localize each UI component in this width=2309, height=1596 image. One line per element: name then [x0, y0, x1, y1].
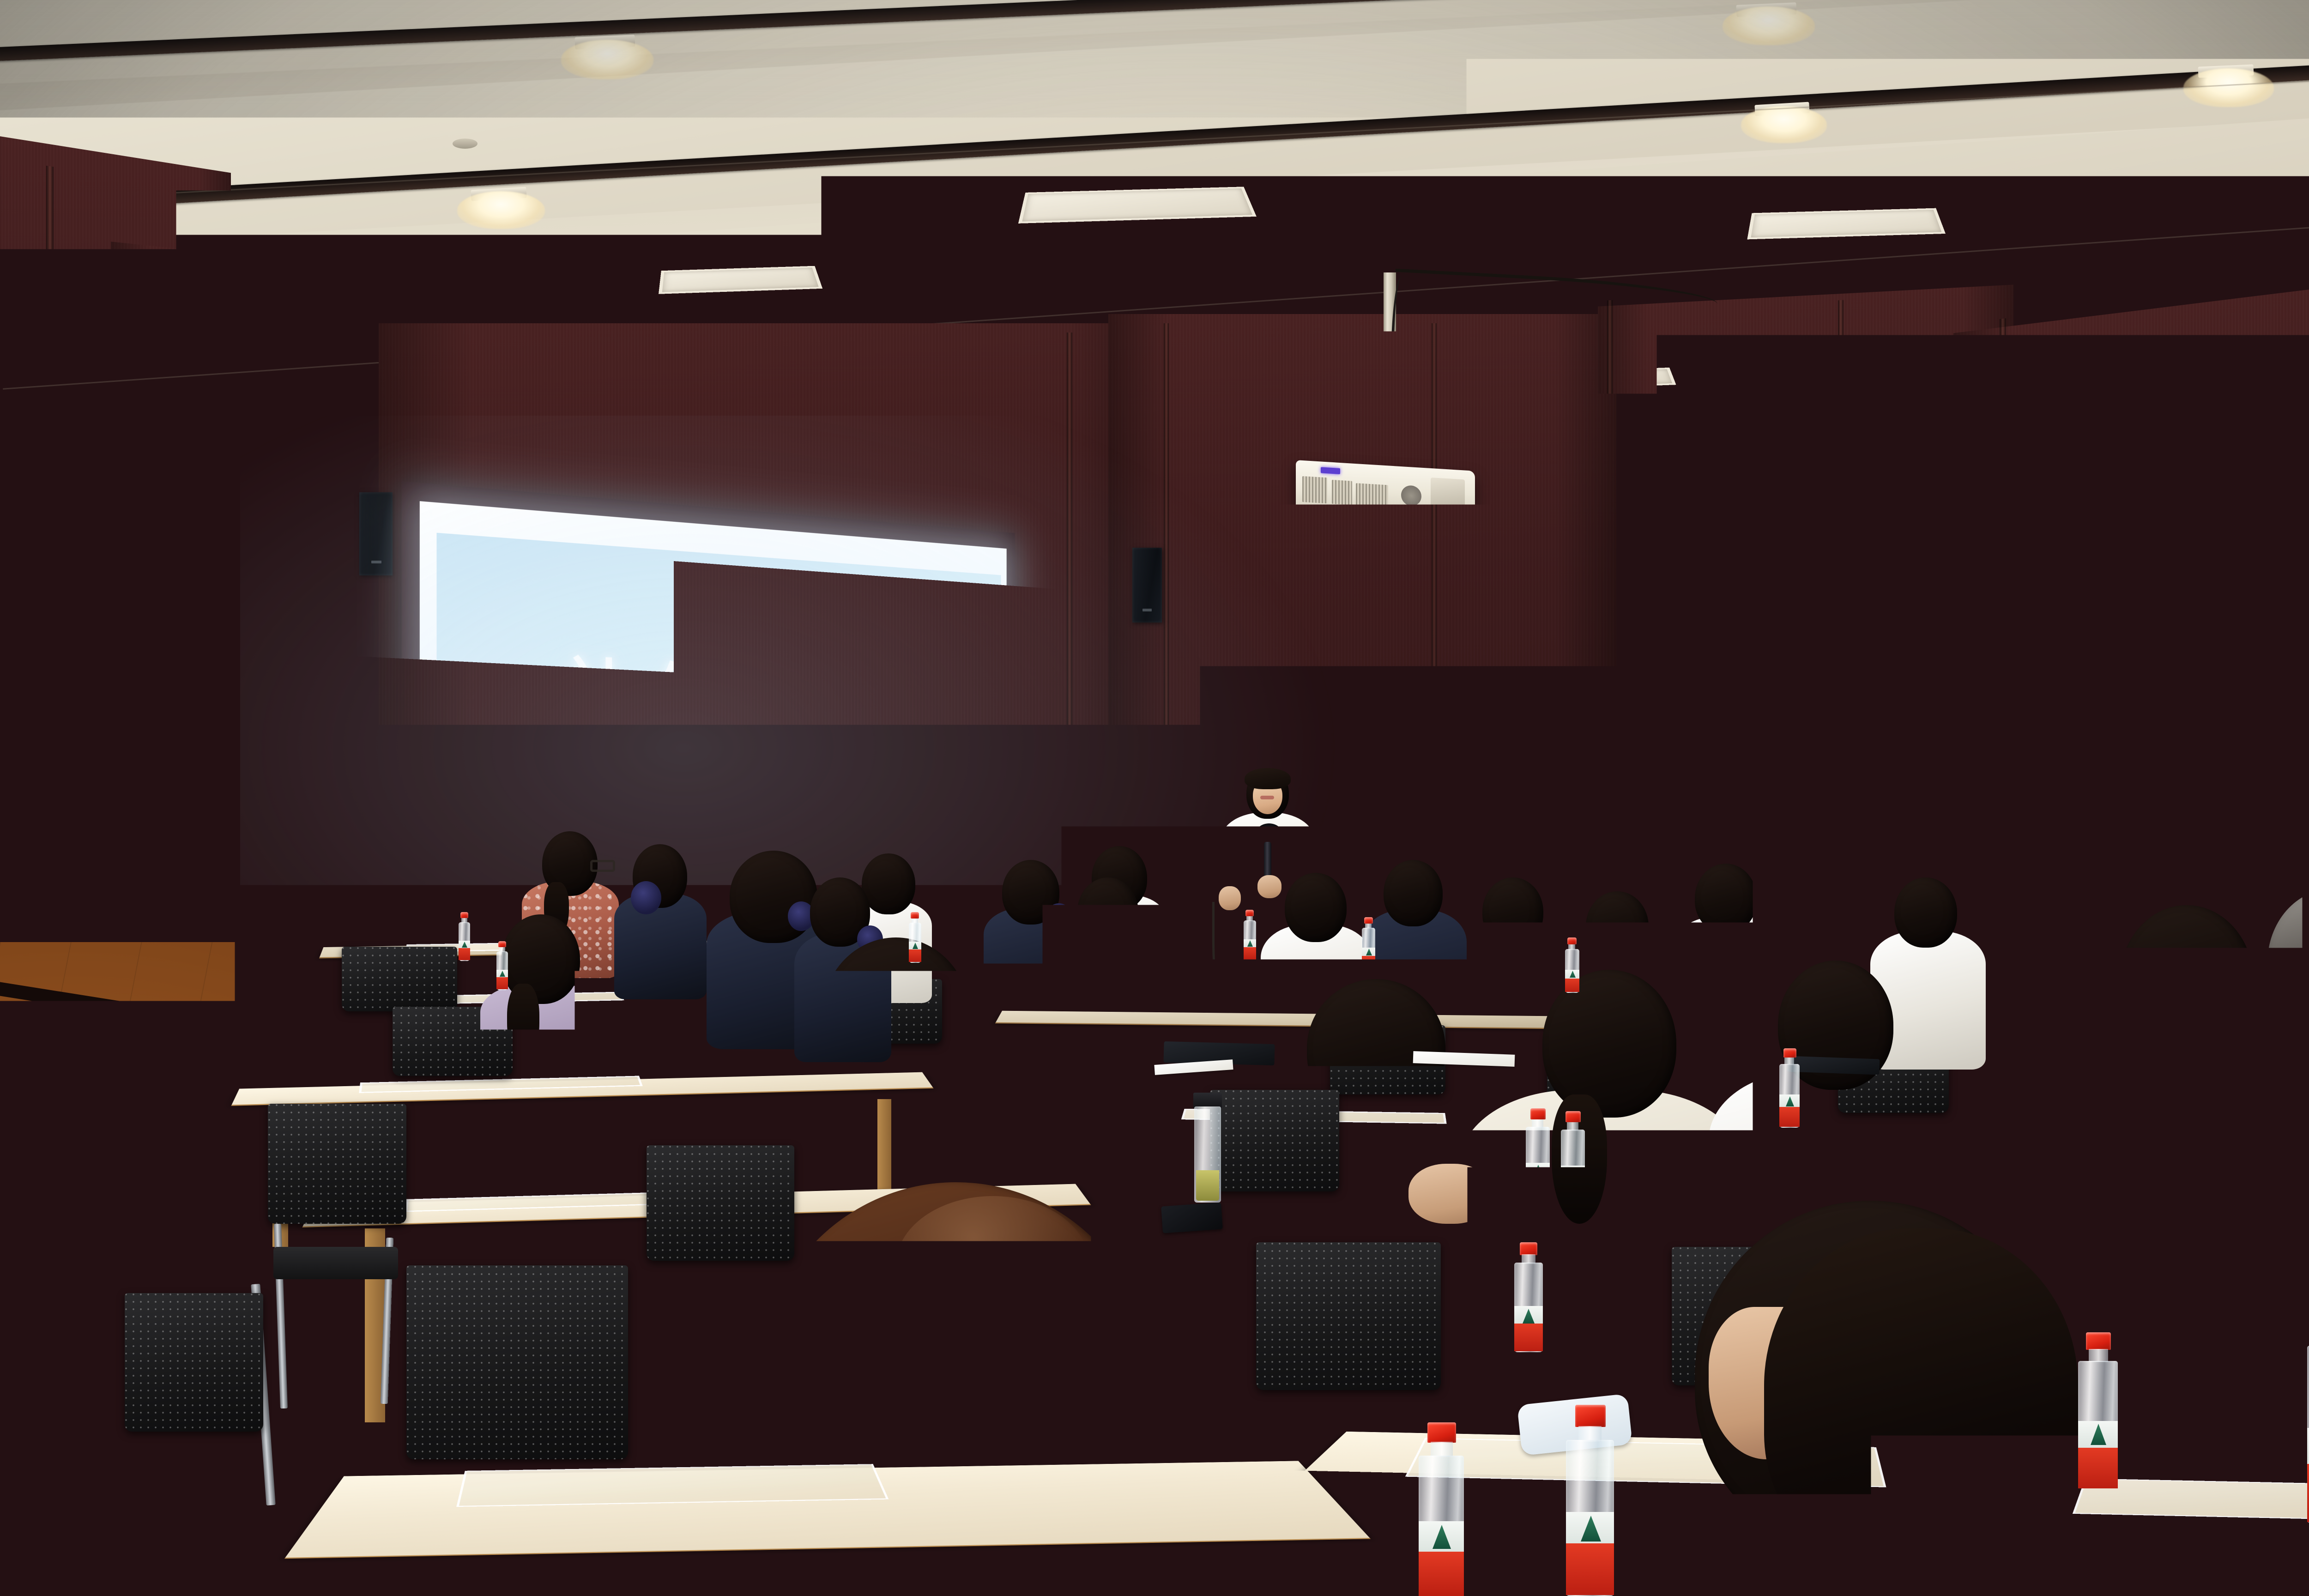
attendee-head [635, 905, 751, 1021]
attendee-head [862, 853, 915, 914]
spotlight-glow [561, 40, 653, 79]
attendee-hair [1764, 1228, 2078, 1570]
attendee-arm [1408, 1164, 1492, 1224]
attendee-head [1894, 877, 1957, 948]
spotlight-glow [457, 191, 545, 229]
slide-title: 礼仪培训 [436, 647, 1001, 762]
water-bottle[interactable] [1360, 917, 1376, 971]
water-bottle[interactable] [907, 912, 922, 964]
potted-plant [0, 1062, 129, 1201]
water-bottle[interactable] [2304, 1307, 2309, 1524]
bottle-label-red [2307, 1464, 2309, 1522]
hair-scrunchie [631, 881, 661, 914]
attendee-head [1307, 979, 1445, 1118]
projector-status-led [1321, 467, 1340, 474]
bottle-label-red [1419, 1552, 1464, 1596]
photo-scene: 礼仪培训 [0, 0, 2309, 1596]
ponytail [494, 1090, 554, 1228]
projection-screen: 礼仪培训 [402, 481, 1015, 914]
chair[interactable] [125, 1293, 263, 1432]
spotlight-glow [2183, 68, 2274, 107]
attendee-top [1055, 929, 1161, 1063]
water-bottle[interactable] [1524, 1108, 1552, 1203]
attendee-head [1542, 970, 1676, 1118]
bottle-cap [1427, 1422, 1456, 1443]
attendee-head [1586, 891, 1649, 961]
hair-highlight [896, 1196, 1090, 1335]
attendee-head [1482, 877, 1543, 946]
attendee-head [2027, 1030, 2138, 1145]
spotlight-glow [1723, 6, 1815, 45]
water-bottle[interactable] [1559, 1111, 1587, 1206]
chair[interactable] [342, 947, 457, 1011]
water-bottle[interactable] [1564, 937, 1580, 994]
attendee-head [1384, 860, 1443, 926]
chair[interactable] [268, 1104, 406, 1224]
smartphone[interactable] [1161, 1203, 1223, 1233]
presenter-hand [1257, 875, 1281, 898]
water-bottle[interactable] [806, 1467, 857, 1596]
water-bottle[interactable] [2076, 1332, 2120, 1489]
screen-bright-border: 礼仪培训 [420, 501, 1007, 903]
smoke-detector [453, 139, 478, 149]
bottle-cap [1575, 1405, 1606, 1427]
water-bottle[interactable] [1563, 1405, 1617, 1596]
bottle-cap [2086, 1332, 2111, 1350]
wall-speaker-right [1132, 548, 1162, 623]
water-bottle[interactable] [457, 912, 471, 962]
wall-speaker-left [359, 492, 393, 575]
chair-seat [273, 1247, 398, 1279]
water-bottle[interactable] [1231, 905, 1245, 953]
attendee-head [1695, 864, 1757, 933]
water-bottle[interactable] [1416, 1422, 1467, 1596]
projector [1296, 460, 1475, 530]
presentation-slide: 礼仪培训 [436, 533, 1001, 896]
water-bottle[interactable] [495, 941, 509, 991]
water-bottle[interactable] [1118, 908, 1132, 960]
bottle-label [2307, 1428, 2309, 1465]
eyeglasses-icon [2106, 990, 2147, 1010]
attendee-top [2240, 1028, 2309, 1305]
attendee-head [1285, 873, 1347, 942]
water-bottle[interactable] [1512, 1242, 1545, 1353]
tea-tumbler[interactable] [1191, 1093, 1224, 1203]
eyeglasses-icon [1932, 1000, 1975, 1022]
eyeglasses-icon [590, 860, 615, 872]
bottle-label-red [1566, 1543, 1614, 1595]
bottle-cap [817, 1467, 846, 1487]
projector-cable [1391, 277, 1412, 453]
hair-scrunchie [1046, 903, 1072, 932]
attendee-top [1672, 916, 1787, 1055]
spotlight-glow [1741, 106, 1827, 143]
water-bottle[interactable] [1778, 1048, 1801, 1130]
presenter-head [1246, 768, 1289, 819]
